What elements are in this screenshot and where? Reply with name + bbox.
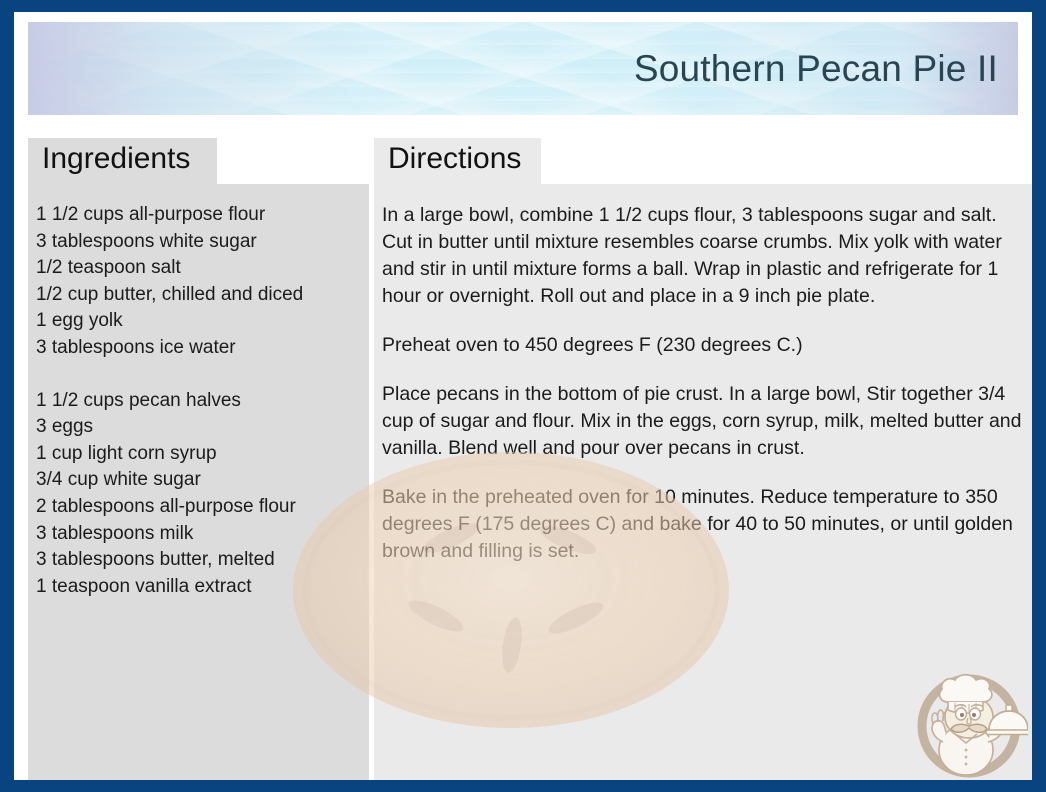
page-title: Southern Pecan Pie II: [634, 48, 998, 90]
list-item: 2 tablespoons all-purpose flour: [36, 494, 363, 521]
list-item: 1 1/2 cups all-purpose flour: [36, 202, 363, 229]
directions-heading: Directions: [374, 138, 541, 184]
ingredients-list: 1 1/2 cups all-purpose flour 3 tablespoo…: [36, 202, 363, 626]
list-item: 1 1/2 cups pecan halves: [36, 388, 363, 415]
list-item: 1/2 cup butter, chilled and diced: [36, 282, 363, 309]
list-item: 3 tablespoons butter, melted: [36, 547, 363, 574]
list-item: 3 tablespoons milk: [36, 521, 363, 548]
header-banner: Southern Pecan Pie II: [28, 22, 1018, 115]
list-item: 1 cup light corn syrup: [36, 441, 363, 468]
list-item: 1 teaspoon vanilla extract: [36, 574, 363, 601]
list-item: 3 tablespoons ice water: [36, 335, 363, 362]
list-item: 1/2 teaspoon salt: [36, 255, 363, 282]
direction-paragraph: Place pecans in the bottom of pie crust.…: [382, 381, 1022, 462]
direction-paragraph: In a large bowl, combine 1 1/2 cups flou…: [382, 202, 1022, 310]
list-item: 3/4 cup white sugar: [36, 467, 363, 494]
list-item: 3 eggs: [36, 414, 363, 441]
directions-text: In a large bowl, combine 1 1/2 cups flou…: [382, 202, 1022, 587]
list-item: 3 tablespoons white sugar: [36, 229, 363, 256]
direction-paragraph: Preheat oven to 450 degrees F (230 degre…: [382, 332, 1022, 359]
recipe-card: Southern Pecan Pie II Ingredients 1 1/2 …: [0, 0, 1046, 792]
recipe-page: Southern Pecan Pie II Ingredients 1 1/2 …: [14, 12, 1032, 780]
ingredient-group: 1 1/2 cups all-purpose flour 3 tablespoo…: [36, 202, 363, 362]
chef-mascot-logo: [910, 664, 1028, 780]
ingredient-group: 1 1/2 cups pecan halves 3 eggs 1 cup lig…: [36, 388, 363, 601]
ingredients-panel: 1 1/2 cups all-purpose flour 3 tablespoo…: [28, 184, 369, 780]
list-item: 1 egg yolk: [36, 308, 363, 335]
ingredients-heading: Ingredients: [28, 138, 217, 184]
direction-paragraph: Bake in the preheated oven for 10 minute…: [382, 484, 1022, 565]
